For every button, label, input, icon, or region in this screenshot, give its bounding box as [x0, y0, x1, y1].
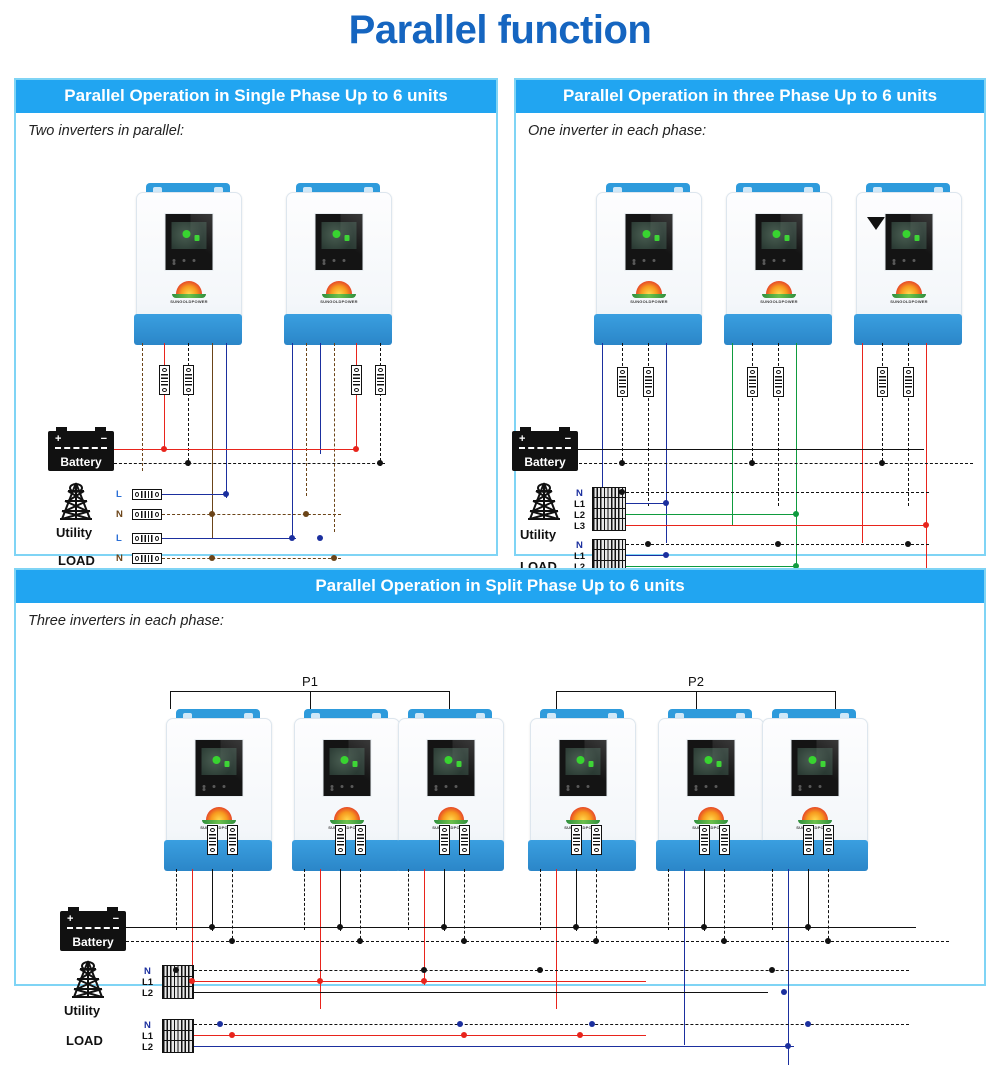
pin-label-utility-N: N [116, 509, 123, 520]
load-terminal-block[interactable] [162, 1019, 194, 1053]
mouse-cursor-icon [867, 217, 885, 230]
lcd-screen-icon [755, 213, 804, 271]
breaker-icon[interactable] [351, 365, 362, 395]
bus-battery-positive [574, 449, 924, 450]
sunrise-logo-icon: SUNGOLDPOWER [628, 281, 670, 304]
wire-load-N [194, 1024, 909, 1025]
pin-label-load-L1: L1 [142, 1031, 153, 1042]
wire-line-L1 [666, 343, 667, 543]
pin-label-utility-L: L [116, 489, 122, 500]
sunrise-logo-icon: SUNGOLDPOWER [758, 281, 800, 304]
pin-label-utility-L1: L1 [142, 977, 153, 988]
wire-line-L1 [556, 869, 557, 1009]
sunrise-logo-icon: SUNGOLDPOWER [888, 281, 930, 304]
panel-three-phase-header: Parallel Operation in three Phase Up to … [516, 80, 984, 113]
pin-label-load-N: N [144, 1020, 151, 1031]
breaker-icon[interactable] [773, 367, 784, 397]
wire-load-L2 [194, 1046, 794, 1047]
panel-single-phase-header: Parallel Operation in Single Phase Up to… [16, 80, 496, 113]
breaker-icon[interactable] [823, 825, 834, 855]
inverter-base [134, 314, 242, 345]
wire-line-L2 [796, 343, 797, 565]
wire-load-L1 [626, 555, 668, 556]
lcd-screen-icon [885, 213, 934, 271]
wire-load-L [162, 538, 296, 539]
bus-battery-positive [126, 927, 916, 928]
battery-icon: +− Battery [48, 431, 114, 471]
wire-battery-negative [380, 343, 381, 466]
inverter-unit[interactable]: SUNGOLDPOWER [292, 709, 400, 869]
wire-line [292, 343, 293, 539]
inverter-unit[interactable]: SUNGOLDPOWER [164, 709, 272, 869]
bus-battery-positive [114, 449, 358, 450]
group-bracket-p2: P2 [556, 691, 836, 709]
group-label-p1: P1 [298, 674, 322, 689]
wire-line-L2 [732, 343, 733, 525]
inverter-body: SUNGOLDPOWER [658, 718, 764, 848]
utility-tower-icon [68, 959, 108, 1001]
wire-line [320, 343, 321, 454]
wire-line-L3 [862, 343, 863, 543]
pin-label-load-L2: L2 [142, 1042, 153, 1053]
wire-utility-L [162, 494, 228, 495]
group-label-p2: P2 [684, 674, 708, 689]
inverter-body: SUNGOLDPOWER [762, 718, 868, 848]
utility-tower-icon [56, 481, 96, 523]
breaker-icon[interactable] [207, 825, 218, 855]
inverter-unit[interactable]: SUNGOLDPOWER [760, 709, 868, 869]
diagram-root: Parallel function Parallel Operation in … [0, 0, 1000, 1000]
wire-utility-N [194, 970, 909, 971]
inverter-unit[interactable]: SUNGOLDPOWER [134, 183, 242, 343]
inverter-base [594, 314, 702, 345]
lcd-screen-icon [625, 213, 674, 271]
wire-battery-positive [164, 343, 165, 449]
lcd-screen-icon [195, 739, 244, 797]
wire-load-N [162, 558, 341, 559]
breaker-icon[interactable] [375, 365, 386, 395]
pin-label-load-N: N [576, 540, 583, 551]
wire-neutral [752, 343, 753, 466]
breaker-icon[interactable] [355, 825, 366, 855]
bus-battery-negative [114, 463, 385, 464]
breaker-icon[interactable] [132, 533, 162, 544]
battery-icon: +− Battery [60, 911, 126, 951]
breaker-icon[interactable] [877, 367, 888, 397]
lcd-screen-icon [791, 739, 840, 797]
breaker-icon[interactable] [571, 825, 582, 855]
breaker-icon[interactable] [227, 825, 238, 855]
wire-line [226, 343, 227, 498]
panel-three-phase-subtitle: One inverter in each phase: [516, 113, 984, 139]
wire-load-L2 [626, 566, 798, 567]
inverter-unit[interactable]: SUNGOLDPOWER [854, 183, 962, 343]
battery-icon: +− Battery [512, 431, 578, 471]
inverter-base [760, 840, 868, 871]
panel-single-phase: Parallel Operation in Single Phase Up to… [14, 78, 498, 556]
utility-tower-icon [524, 481, 564, 523]
inverter-base [656, 840, 764, 871]
inverter-body: SUNGOLDPOWER [530, 718, 636, 848]
lcd-screen-icon [427, 739, 476, 797]
wire-line-L2 [684, 869, 685, 1045]
breaker-icon[interactable] [132, 553, 162, 564]
wire-battery-negative [188, 343, 189, 466]
breaker-icon[interactable] [132, 509, 162, 520]
breaker-icon[interactable] [617, 367, 628, 397]
inverter-base [528, 840, 636, 871]
inverter-base [724, 314, 832, 345]
inverter-base [396, 840, 504, 871]
wire-utility-N [162, 514, 341, 515]
pin-label-load-L: L [116, 533, 122, 544]
panel-split-phase-header: Parallel Operation in Split Phase Up to … [16, 570, 984, 603]
inverter-unit[interactable]: SUNGOLDPOWER [594, 183, 702, 343]
inverter-body: SUNGOLDPOWER [398, 718, 504, 848]
wire-utility-L2 [626, 514, 798, 515]
inverter-base [292, 840, 400, 871]
lcd-screen-icon [165, 213, 214, 271]
breaker-icon[interactable] [591, 825, 602, 855]
inverter-unit[interactable]: SUNGOLDPOWER [724, 183, 832, 343]
group-bracket-p1: P1 [170, 691, 450, 709]
pin-label-utility-L3: L3 [574, 521, 585, 532]
utility-label: Utility [56, 525, 92, 540]
page-title: Parallel function [0, 8, 1000, 53]
wire-line-L2 [788, 869, 789, 1065]
wire-neutral [882, 343, 883, 466]
inverter-base [164, 840, 272, 871]
breaker-icon[interactable] [439, 825, 450, 855]
inverter-unit[interactable]: SUNGOLDPOWER [284, 183, 392, 343]
breaker-icon[interactable] [335, 825, 346, 855]
breaker-icon[interactable] [643, 367, 654, 397]
inverter-unit[interactable]: SUNGOLDPOWER [396, 709, 504, 869]
utility-label: Utility [64, 1003, 100, 1018]
breaker-icon[interactable] [747, 367, 758, 397]
wire-neutral [306, 343, 307, 496]
panel-three-phase: Parallel Operation in three Phase Up to … [514, 78, 986, 556]
pin-label-utility-L1: L1 [574, 499, 585, 510]
wire-line-L1 [602, 343, 603, 501]
breaker-icon[interactable] [132, 489, 162, 500]
lcd-screen-icon [559, 739, 608, 797]
pin-label-utility-L2: L2 [574, 510, 585, 521]
panel-single-phase-subtitle: Two inverters in parallel: [16, 113, 496, 139]
wire-utility-L3 [626, 525, 928, 526]
pin-label-utility-N: N [144, 966, 151, 977]
pin-label-load-L1: L1 [574, 551, 585, 562]
breaker-icon[interactable] [699, 825, 710, 855]
breaker-icon[interactable] [719, 825, 730, 855]
wire-utility-L1 [194, 981, 646, 982]
wire-battery-positive [356, 343, 357, 449]
inverter-body: SUNGOLDPOWER [286, 192, 392, 322]
wire-utility-L2 [194, 992, 768, 993]
inverter-body: SUNGOLDPOWER [856, 192, 962, 322]
breaker-icon[interactable] [903, 367, 914, 397]
pin-label-utility-N: N [576, 488, 583, 499]
utility-label: Utility [520, 527, 556, 542]
bus-battery-negative [574, 463, 973, 464]
breaker-icon[interactable] [159, 365, 170, 395]
inverter-body: SUNGOLDPOWER [136, 192, 242, 322]
inverter-body: SUNGOLDPOWER [294, 718, 400, 848]
panel-split-phase-subtitle: Three inverters in each phase: [16, 603, 984, 629]
panel-split-phase: Parallel Operation in Split Phase Up to … [14, 568, 986, 986]
wire-neutral [142, 343, 143, 471]
inverter-body: SUNGOLDPOWER [166, 718, 272, 848]
sunrise-logo-icon: SUNGOLDPOWER [318, 281, 360, 304]
sunrise-logo-icon: SUNGOLDPOWER [168, 281, 210, 304]
breaker-icon[interactable] [183, 365, 194, 395]
breaker-icon[interactable] [459, 825, 470, 855]
load-label: LOAD [66, 1033, 103, 1048]
pin-label-utility-L2: L2 [142, 988, 153, 999]
pin-label-load-N: N [116, 553, 123, 564]
inverter-base [284, 314, 392, 345]
wire-line-L1 [320, 869, 321, 1009]
wire-neutral [622, 343, 623, 466]
inverter-body: SUNGOLDPOWER [726, 192, 832, 322]
lcd-screen-icon [323, 739, 372, 797]
inverter-unit[interactable]: SUNGOLDPOWER [656, 709, 764, 869]
wire-neutral-out [212, 343, 213, 539]
load-label: LOAD [58, 553, 95, 568]
inverter-unit[interactable]: SUNGOLDPOWER [528, 709, 636, 869]
wire-utility-L1 [626, 503, 668, 504]
breaker-icon[interactable] [803, 825, 814, 855]
wire-neutral [334, 343, 335, 532]
inverter-base [854, 314, 962, 345]
inverter-body: SUNGOLDPOWER [596, 192, 702, 322]
wire-utility-N [626, 492, 929, 493]
lcd-screen-icon [315, 213, 364, 271]
lcd-screen-icon [687, 739, 736, 797]
